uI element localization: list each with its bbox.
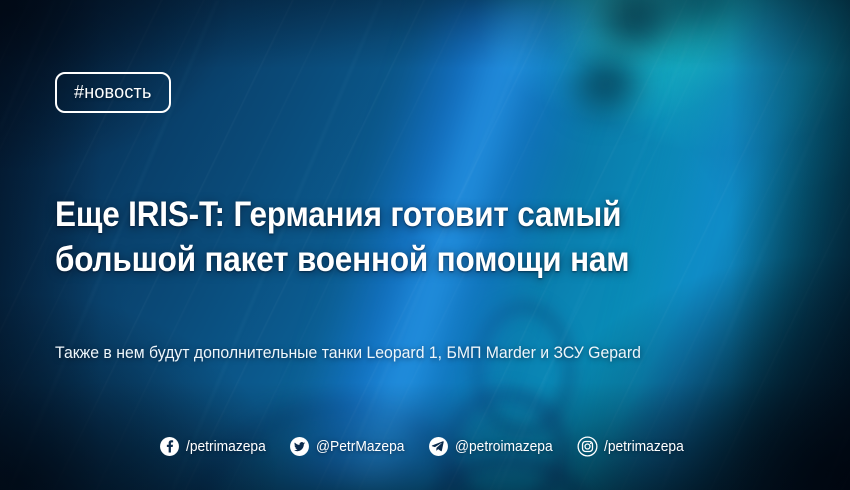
social-handle: @PetrMazepa — [316, 438, 404, 455]
social-links-row: /petrimazepa @PetrMazepa @petroimazepa — [0, 436, 850, 457]
social-link-twitter[interactable]: @PetrMazepa — [289, 436, 412, 457]
social-handle: @petroimazepa — [455, 438, 553, 455]
twitter-icon — [289, 436, 310, 457]
social-link-instagram[interactable]: /petrimazepa — [577, 436, 691, 457]
page-title: Еще IRIS-T: Германия готовит самый больш… — [55, 192, 685, 282]
social-handle: /petrimazepa — [186, 438, 266, 455]
social-link-telegram[interactable]: @petroimazepa — [428, 436, 561, 457]
telegram-icon — [428, 436, 449, 457]
facebook-icon — [159, 436, 180, 457]
social-link-facebook[interactable]: /petrimazepa — [159, 436, 273, 457]
social-handle: /petrimazepa — [604, 438, 684, 455]
news-card: #новость Еще IRIS-T: Германия готовит са… — [0, 0, 850, 490]
category-badge[interactable]: #новость — [55, 72, 171, 113]
instagram-icon — [577, 436, 598, 457]
page-subtitle: Также в нем будут дополнительные танки L… — [55, 342, 743, 364]
card-content: #новость Еще IRIS-T: Германия готовит са… — [0, 0, 850, 490]
